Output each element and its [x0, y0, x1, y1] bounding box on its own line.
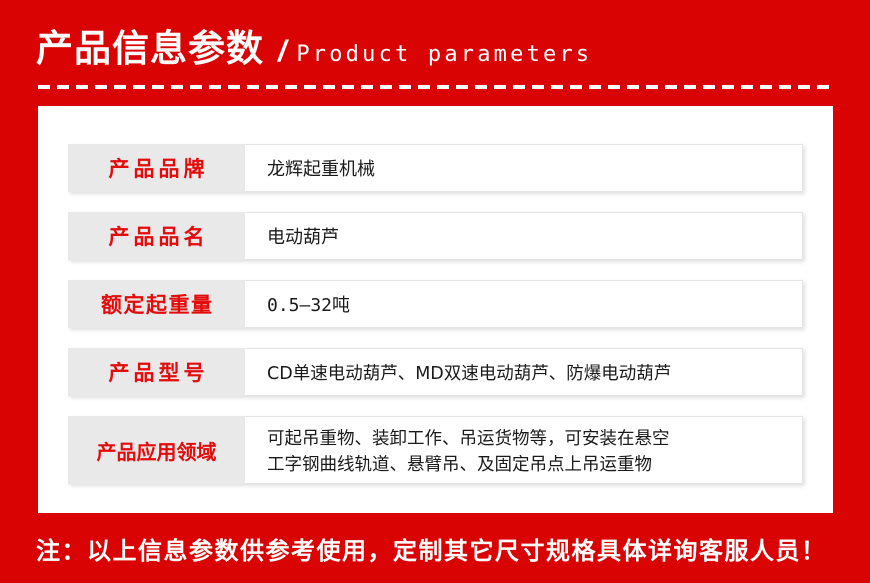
- parameters-card: 产品品牌 龙辉起重机械 产品品名 电动葫芦 额定起重量 0.5—32吨 产品型号…: [38, 106, 833, 513]
- row-value-application-line2: 工字钢曲线轨道、悬臂吊、及固定吊点上吊运重物: [267, 452, 802, 478]
- table-row: 产品品牌 龙辉起重机械: [68, 144, 803, 192]
- header-banner: 产品信息参数 / Product parameters: [0, 0, 870, 106]
- title-separator-slash: /: [278, 37, 286, 67]
- row-label-product-name: 产品品名: [68, 212, 245, 260]
- row-label-rated-capacity: 额定起重量: [68, 280, 245, 328]
- table-row: 产品型号 CD单速电动葫芦、MD双速电动葫芦、防爆电动葫芦: [68, 348, 803, 396]
- product-parameters-page: 产品信息参数 / Product parameters 产品品牌 龙辉起重机械 …: [0, 0, 870, 583]
- table-row: 产品应用领域 可起吊重物、装卸工作、吊运货物等，可安装在悬空 工字钢曲线轨道、悬…: [68, 416, 803, 484]
- footer-note-bar: 注：以上信息参数供参考使用，定制其它尺寸规格具体详询客服人员！: [0, 513, 870, 583]
- row-value-rated-capacity: 0.5—32吨: [245, 280, 803, 328]
- row-value-brand: 龙辉起重机械: [245, 144, 803, 192]
- page-title-cn: 产品信息参数: [36, 30, 264, 67]
- header-dashed-divider: [38, 85, 833, 89]
- row-value-application-line1: 可起吊重物、装卸工作、吊运货物等，可安装在悬空: [267, 426, 802, 452]
- table-row: 额定起重量 0.5—32吨: [68, 280, 803, 328]
- parameters-table: 产品品牌 龙辉起重机械 产品品名 电动葫芦 额定起重量 0.5—32吨 产品型号…: [68, 144, 803, 484]
- row-value-model: CD单速电动葫芦、MD双速电动葫芦、防爆电动葫芦: [245, 348, 803, 396]
- row-value-application: 可起吊重物、装卸工作、吊运货物等，可安装在悬空 工字钢曲线轨道、悬臂吊、及固定吊…: [245, 416, 803, 484]
- page-title: 产品信息参数 / Product parameters: [36, 30, 592, 67]
- table-row: 产品品名 电动葫芦: [68, 212, 803, 260]
- footer-note-text: 注：以上信息参数供参考使用，定制其它尺寸规格具体详询客服人员！: [36, 531, 827, 566]
- row-label-brand: 产品品牌: [68, 144, 245, 192]
- row-label-model: 产品型号: [68, 348, 245, 396]
- row-label-application: 产品应用领域: [68, 416, 245, 484]
- row-value-product-name: 电动葫芦: [245, 212, 803, 260]
- page-title-en: Product parameters: [296, 44, 592, 66]
